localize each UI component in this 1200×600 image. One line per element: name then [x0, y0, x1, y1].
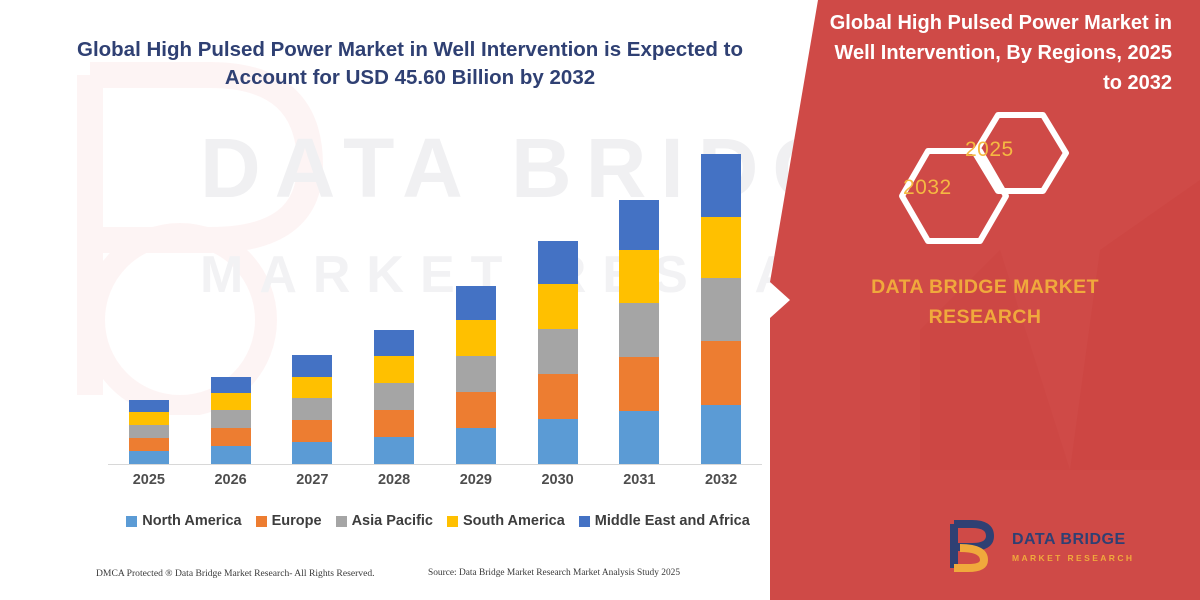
legend-item[interactable]: Asia Pacific [336, 513, 433, 529]
bar-column [599, 120, 680, 464]
bar-segment [619, 357, 659, 411]
x-axis-label: 2026 [190, 472, 271, 488]
bar-column [272, 120, 353, 464]
stacked-bar [619, 200, 659, 464]
brand-line-2: RESEARCH [770, 302, 1200, 332]
bar-segment [292, 420, 332, 442]
bar-segment [619, 303, 659, 357]
bar-segment [374, 356, 414, 383]
bar-segment [701, 217, 741, 278]
stacked-bar [538, 241, 578, 464]
hexagon-label-start: 2025 [965, 138, 1014, 162]
x-axis-label: 2025 [108, 472, 189, 488]
bar-segment [538, 329, 578, 374]
bar-column [354, 120, 435, 464]
stacked-bar [456, 286, 496, 464]
bar-segment [129, 438, 169, 451]
x-axis-label: 2030 [517, 472, 598, 488]
bar-segment [292, 355, 332, 377]
bar-column [108, 120, 189, 464]
legend-swatch-icon [447, 516, 458, 527]
bar-segment [211, 446, 251, 464]
footer: DMCA Protected ® Data Bridge Market Rese… [0, 568, 830, 590]
stacked-bar [129, 400, 169, 464]
legend-swatch-icon [579, 516, 590, 527]
right-panel: Global High Pulsed Power Market in Well … [770, 0, 1200, 600]
x-axis-label: 2028 [354, 472, 435, 488]
bar-segment [701, 341, 741, 405]
bar-segment [538, 374, 578, 419]
x-axis-label: 2029 [435, 472, 516, 488]
bar-segment [701, 154, 741, 217]
page-title: Global High Pulsed Power Market in Well … [60, 36, 760, 92]
legend-label: Asia Pacific [352, 513, 433, 529]
bar-segment [292, 442, 332, 464]
bar-segment [619, 250, 659, 303]
bar-segment [456, 286, 496, 320]
stacked-bar [211, 377, 251, 464]
bar-segment [374, 330, 414, 356]
legend-item[interactable]: Middle East and Africa [579, 513, 750, 529]
bar-segment [374, 437, 414, 464]
bar-segment [701, 278, 741, 341]
legend-item[interactable]: Europe [256, 513, 322, 529]
x-axis-label: 2027 [272, 472, 353, 488]
stacked-bar [701, 154, 741, 464]
bar-segment [129, 412, 169, 425]
hexagon-label-end: 2032 [903, 176, 952, 200]
bar-column [681, 120, 762, 464]
bar-segment [292, 377, 332, 398]
legend-label: Europe [272, 513, 322, 529]
chart-panel: Global High Pulsed Power Market in Well … [0, 0, 830, 600]
bar-segment [619, 411, 659, 464]
legend-label: North America [142, 513, 241, 529]
stacked-bar [292, 355, 332, 464]
dbmr-logo-icon: DATA BRIDGE MARKET RESEARCH [938, 518, 1168, 574]
bar-segment [129, 451, 169, 464]
bar-segment [211, 410, 251, 428]
legend-label: Middle East and Africa [595, 513, 750, 529]
bar-segment [538, 241, 578, 284]
footer-source: Source: Data Bridge Market Research Mark… [428, 568, 680, 578]
stacked-bar-chart [108, 120, 762, 464]
bar-segment [374, 383, 414, 410]
bar-segment [211, 377, 251, 393]
chart-legend: North AmericaEuropeAsia PacificSouth Ame… [108, 513, 768, 529]
stacked-bar [374, 330, 414, 464]
bar-column [190, 120, 271, 464]
footer-copyright: DMCA Protected ® Data Bridge Market Rese… [96, 568, 375, 579]
legend-swatch-icon [126, 516, 137, 527]
infographic-root: DATA BRIDGE MARKET RESEARCH Global High … [0, 0, 1200, 600]
brand-line-1: DATA BRIDGE MARKET [770, 272, 1200, 302]
bar-segment [701, 405, 741, 464]
svg-text:DATA BRIDGE: DATA BRIDGE [1012, 531, 1126, 548]
svg-text:MARKET RESEARCH: MARKET RESEARCH [1012, 553, 1134, 563]
bar-segment [619, 200, 659, 250]
bar-segment [456, 356, 496, 392]
bar-column [435, 120, 516, 464]
bar-segment [211, 393, 251, 410]
x-axis-label: 2031 [599, 472, 680, 488]
brand-name: DATA BRIDGE MARKET RESEARCH [770, 272, 1200, 332]
bar-segment [211, 428, 251, 446]
bar-segment [456, 320, 496, 356]
legend-swatch-icon [336, 516, 347, 527]
x-axis-labels: 20252026202720282029203020312032 [108, 472, 762, 488]
bar-segment [374, 410, 414, 437]
bar-column [517, 120, 598, 464]
x-axis-line [108, 464, 762, 465]
bar-segment [129, 400, 169, 412]
bar-segment [538, 284, 578, 329]
legend-item[interactable]: North America [126, 513, 241, 529]
legend-swatch-icon [256, 516, 267, 527]
bar-segment [538, 419, 578, 464]
legend-item[interactable]: South America [447, 513, 565, 529]
x-axis-label: 2032 [681, 472, 762, 488]
bar-segment [456, 392, 496, 428]
bar-segment [456, 428, 496, 464]
bar-segment [129, 425, 169, 438]
bar-segment [292, 398, 332, 420]
legend-label: South America [463, 513, 565, 529]
